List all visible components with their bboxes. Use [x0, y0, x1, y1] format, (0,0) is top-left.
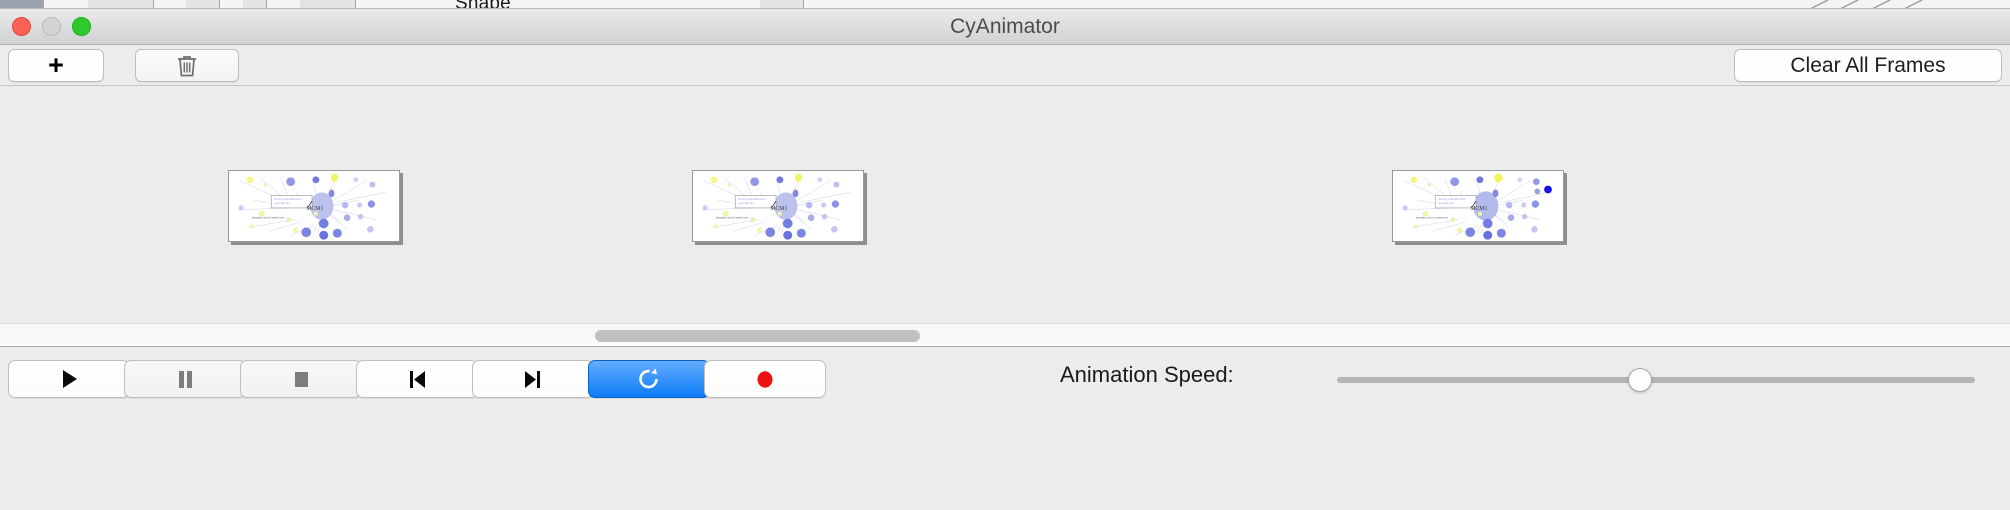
clear-all-frames-button[interactable]: Clear All Frames [1734, 49, 2002, 82]
bg-chip [300, 0, 356, 9]
svg-text:MCM1: MCM1 [770, 206, 787, 212]
pause-icon [172, 366, 198, 392]
stop-icon [288, 366, 314, 392]
cyanimator-window: Shape CyAnimator + Clear All Frames [0, 0, 2010, 510]
svg-text:the long node label here: the long node label here [1438, 198, 1466, 201]
animation-speed-slider[interactable] [1337, 377, 1975, 383]
skip-forward-icon [520, 366, 546, 392]
play-icon [56, 366, 82, 392]
background-window-strip: Shape [0, 0, 2010, 9]
network-graph-preview: the long node label here secondary line … [1393, 171, 1563, 241]
skip-to-end-button[interactable] [472, 360, 594, 398]
bg-chip [243, 0, 267, 9]
title-bar: CyAnimator [0, 9, 2010, 45]
skip-back-icon [404, 366, 430, 392]
pause-button [124, 360, 246, 398]
bg-chip [88, 0, 154, 9]
frame-thumbnail-1[interactable]: the long node label here secondary line … [228, 170, 400, 242]
skip-to-start-button[interactable] [356, 360, 478, 398]
bg-chip [0, 0, 44, 9]
frame-thumbnail-3[interactable]: the long node label here secondary line … [1392, 170, 1564, 242]
network-graph-preview: the long node label here secondary line … [693, 171, 863, 241]
svg-text:secondary line: secondary line [274, 202, 291, 205]
page-title: CyAnimator [0, 9, 2010, 45]
svg-text:annotation text line shown her: annotation text line shown here [716, 217, 749, 220]
add-frame-button[interactable]: + [8, 49, 104, 82]
trash-icon [176, 54, 198, 78]
plus-icon: + [48, 52, 64, 79]
stop-button [240, 360, 362, 398]
svg-text:the long node label here: the long node label here [738, 198, 766, 201]
loop-button[interactable] [588, 360, 710, 398]
play-button[interactable] [8, 360, 130, 398]
playback-control-bar: Animation Speed: [0, 348, 2010, 510]
record-icon [752, 366, 778, 392]
bg-chip [760, 0, 804, 9]
svg-text:secondary line: secondary line [1438, 202, 1455, 205]
animation-speed-slider-knob[interactable] [1628, 368, 1652, 392]
bg-decoration-icon [1810, 0, 1930, 9]
frame-thumbnail-2[interactable]: the long node label here secondary line … [692, 170, 864, 242]
timeline-scrollbar[interactable] [0, 323, 2010, 347]
delete-frame-button[interactable] [135, 49, 239, 82]
bg-chip [186, 0, 220, 9]
svg-text:annotation text line shown her: annotation text line shown here [252, 217, 285, 220]
svg-text:secondary line: secondary line [738, 202, 755, 205]
record-button[interactable] [704, 360, 826, 398]
scrollbar-thumb[interactable] [595, 330, 920, 342]
network-graph-preview: the long node label here secondary line … [229, 171, 399, 241]
loop-icon [636, 366, 662, 392]
background-window-label: Shape [455, 0, 511, 9]
toolbar: + Clear All Frames [0, 45, 2010, 86]
clear-all-frames-label: Clear All Frames [1790, 54, 1945, 78]
svg-text:the long node label here: the long node label here [274, 198, 302, 201]
animation-speed-label: Animation Speed: [1060, 362, 1234, 388]
svg-text:MCM1: MCM1 [1470, 206, 1487, 212]
timeline-panel[interactable]: the long node label here secondary line … [0, 86, 2010, 323]
svg-text:annotation text line shown her: annotation text line shown here [1416, 217, 1449, 220]
svg-text:MCM1: MCM1 [306, 206, 323, 212]
